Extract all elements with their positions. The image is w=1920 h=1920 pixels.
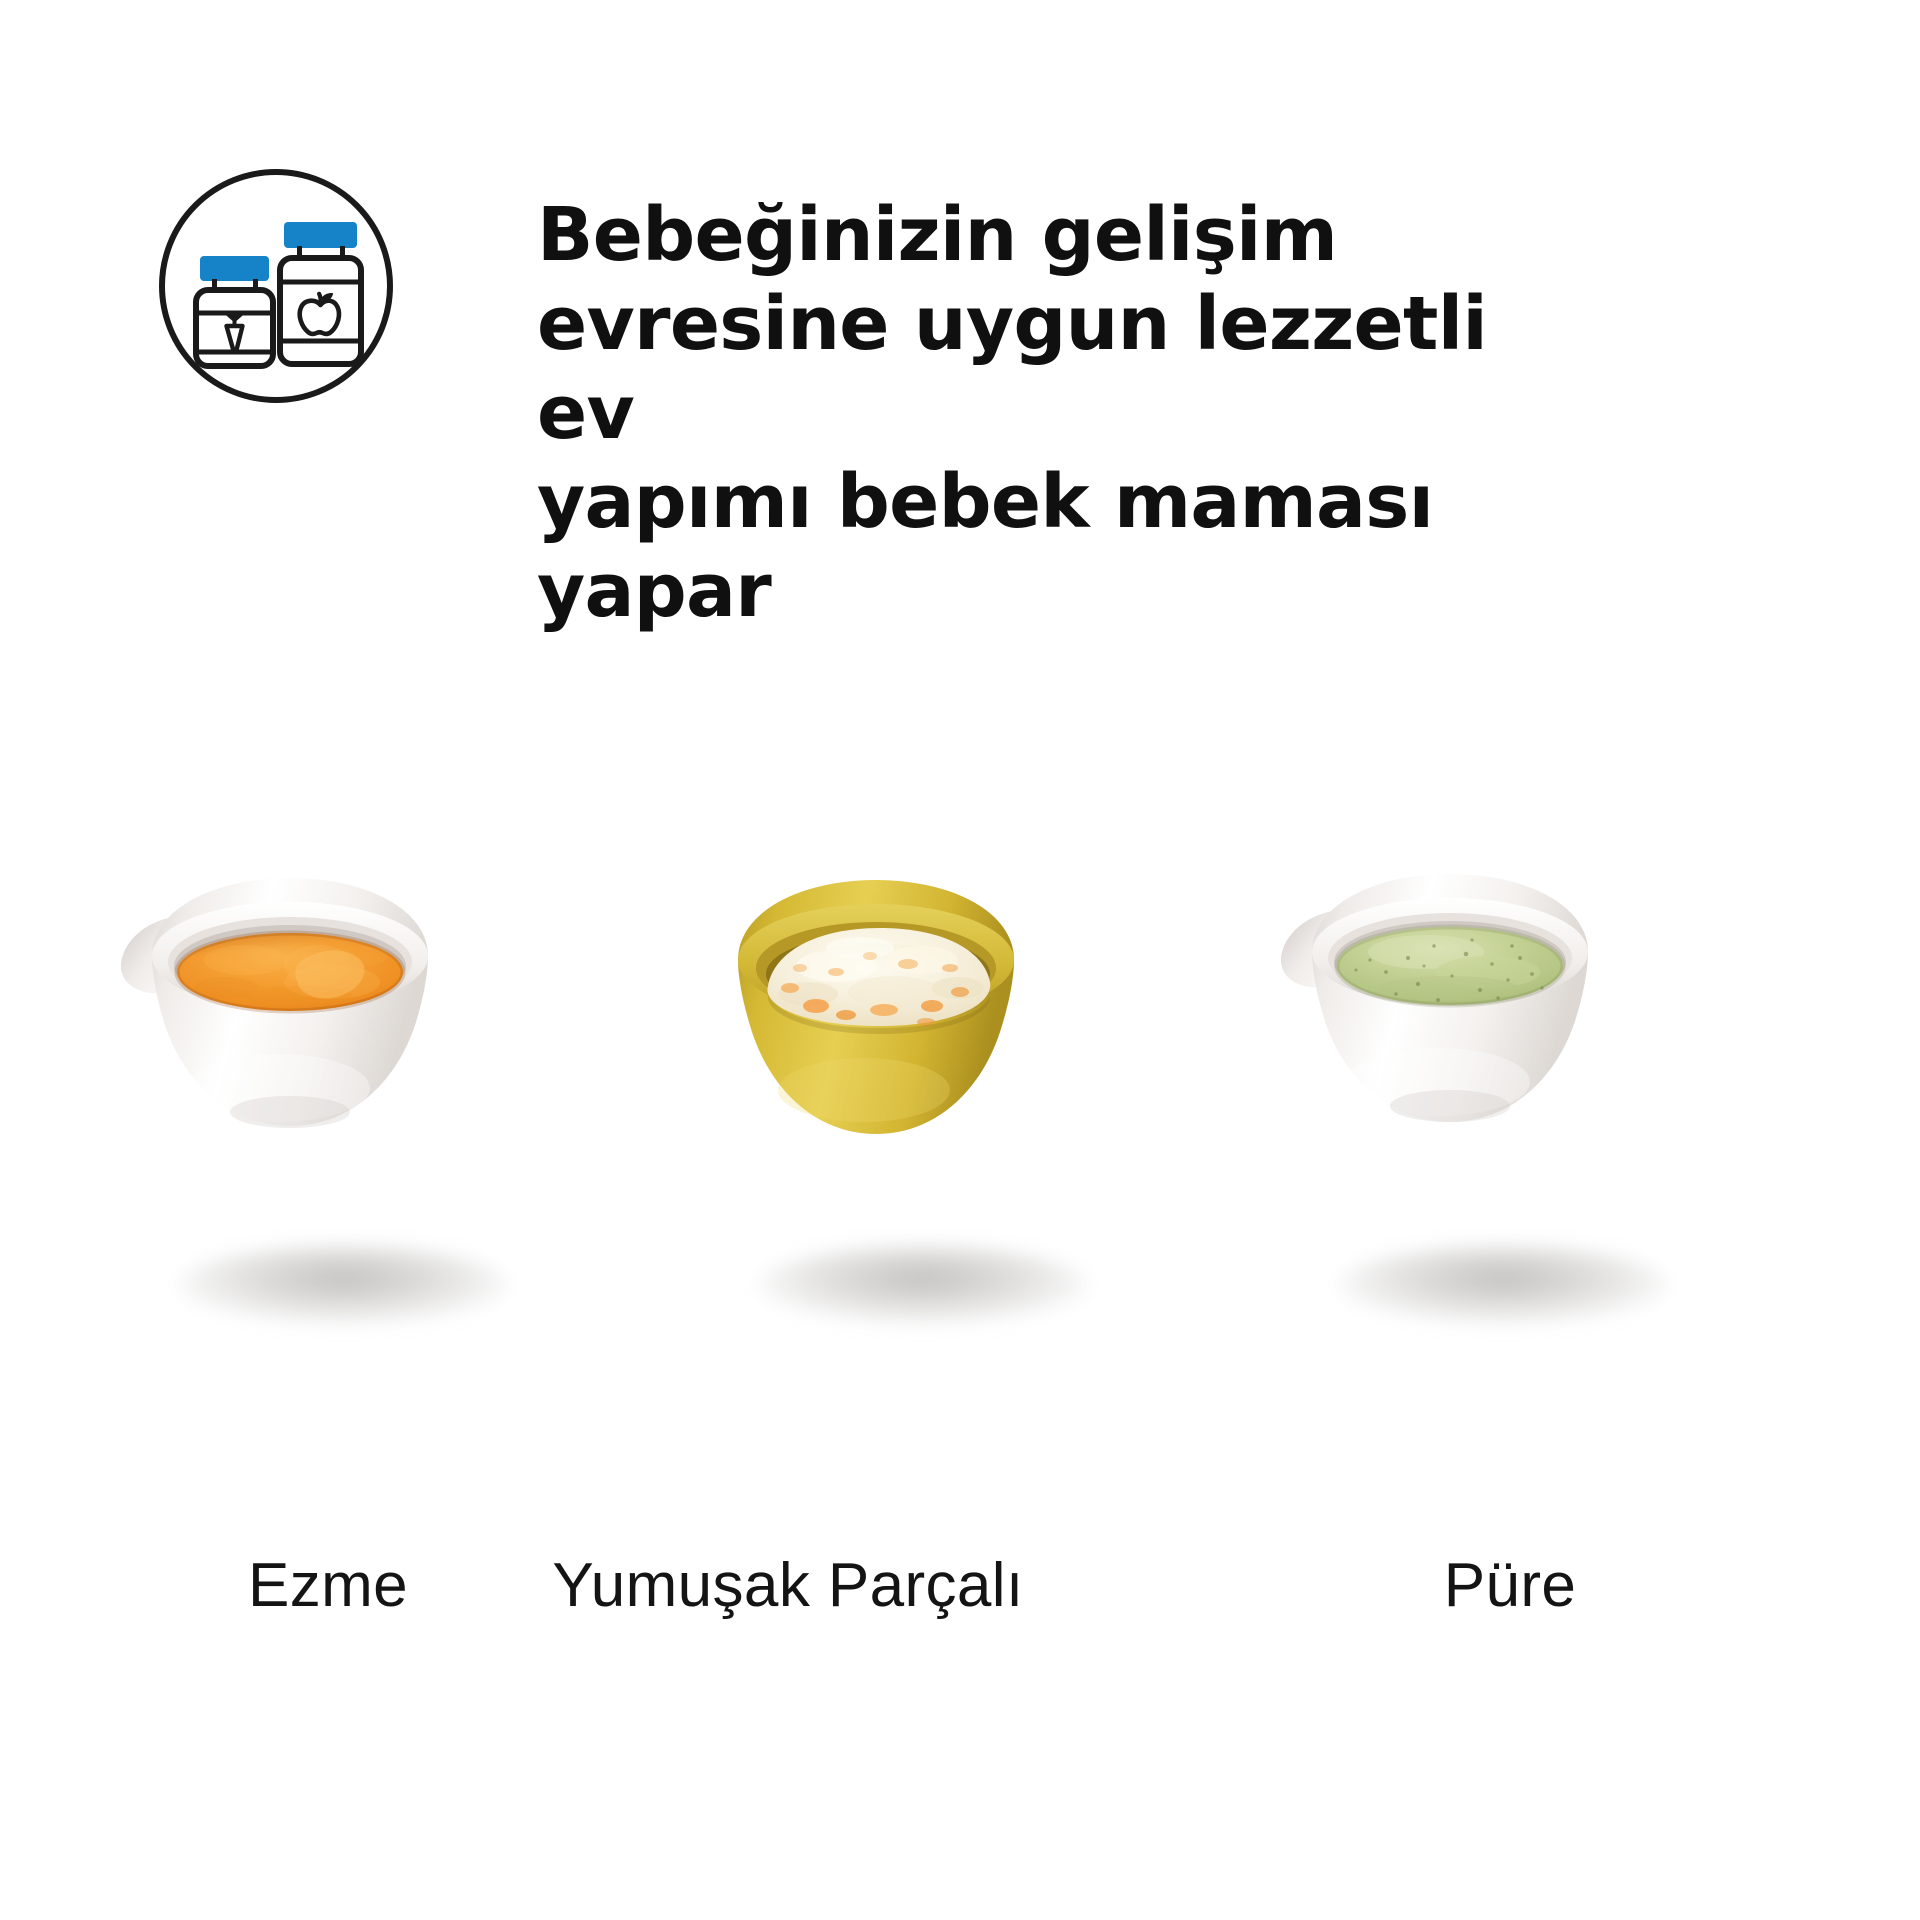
showcase-captions-row: Ezme Yumuşak Parçalı Püre [0, 1545, 1920, 1665]
baby-food-jars-icon [156, 166, 396, 406]
showcase-item-ezme [60, 760, 620, 1460]
header-section: Bebeğinizin gelişim evresine uygun lezze… [0, 0, 1920, 520]
showcase-item-pure [1220, 760, 1780, 1460]
caption-pure: Püre [1230, 1545, 1790, 1627]
caption-yumusak-parcali: Yumuşak Parçalı [508, 1545, 1068, 1627]
product-showcase-row [0, 760, 1920, 1460]
page-headline: Bebeğinizin gelişim evresine uygun lezze… [537, 191, 1537, 636]
showcase-item-yumusak-parcali [640, 760, 1200, 1460]
yellow-bowl [640, 760, 1200, 1380]
white-bowl-with-spout [1220, 760, 1780, 1380]
white-bowl-with-spout [60, 760, 620, 1380]
